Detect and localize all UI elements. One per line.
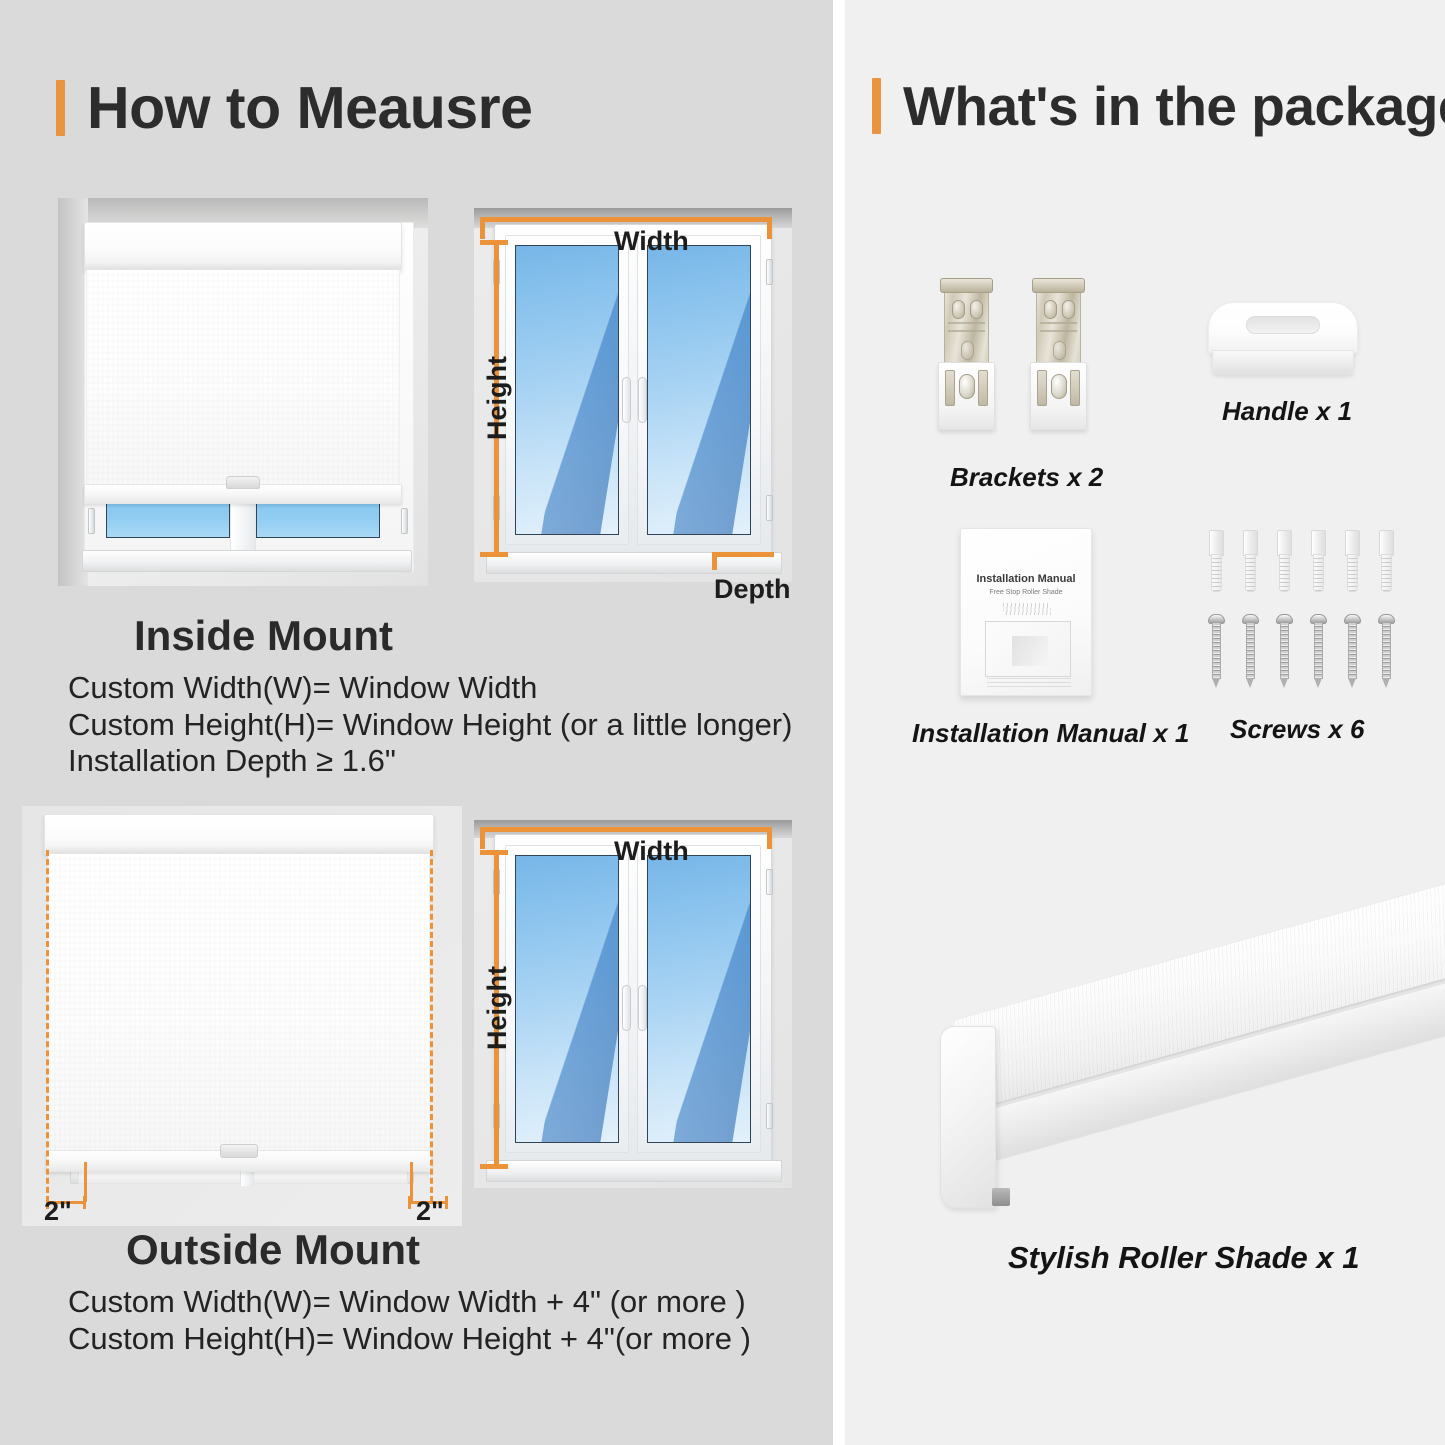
height-label: Height	[482, 966, 513, 1050]
wall-anchor-icon	[1276, 530, 1293, 592]
roller-shade-icon	[900, 880, 1445, 1220]
height-measure-cap-top	[480, 850, 508, 855]
window-handle-right-icon	[638, 377, 647, 423]
window-hinge-right-icon	[401, 508, 408, 534]
how-to-measure-heading: How to Meausre	[56, 74, 532, 142]
overhang-right-label: 2"	[416, 1196, 444, 1227]
window-sash-left	[505, 845, 629, 1153]
width-measure-bar	[480, 827, 772, 832]
window-hinge-top-right-icon	[766, 259, 773, 285]
window-glass-right	[647, 245, 751, 535]
window-glass-left	[515, 855, 619, 1143]
brackets-label: Brackets x 2	[950, 462, 1103, 493]
shade-fabric	[48, 854, 430, 1154]
manual-icon: Installation Manual Free Stop Roller Sha…	[960, 528, 1092, 696]
accent-bar-icon	[56, 80, 65, 136]
overhang-guide-left	[46, 850, 49, 1202]
wall-anchor-icon	[1378, 530, 1395, 592]
screw-icon	[1310, 614, 1327, 688]
outside-mount-window-diagram: Width Height	[462, 812, 812, 1208]
outside-mount-spec-line: Custom Width(W)= Window Width + 4" (or m…	[68, 1284, 751, 1321]
window-handles	[622, 985, 647, 1031]
depth-measure-cap	[712, 552, 717, 570]
window-handle-left-icon	[622, 377, 631, 423]
shade-headrail	[84, 222, 402, 270]
height-measure-cap-bottom	[480, 552, 508, 557]
handle-label: Handle x 1	[1222, 396, 1352, 427]
window-hinge-bottom-right-icon	[766, 495, 773, 521]
manual-cover-subtitle: Free Stop Roller Shade	[961, 589, 1091, 596]
package-title: What's in the package	[903, 74, 1445, 138]
wall-anchor-icon	[1344, 530, 1361, 592]
window-hinge-top-right-icon	[766, 869, 773, 895]
height-measure-cap-top	[480, 240, 508, 245]
window-sash-right	[637, 845, 761, 1153]
shade-pull-handle	[226, 476, 260, 489]
manual-label: Installation Manual x 1	[912, 718, 1189, 749]
window-hinge-bottom-right-icon	[766, 1103, 773, 1129]
overhang-left-label: 2"	[44, 1196, 72, 1227]
depth-label: Depth	[714, 574, 791, 605]
outside-mount-title: Outside Mount	[126, 1226, 420, 1274]
inside-mount-spec-line: Custom Height(H)= Window Height (or a li…	[68, 707, 792, 744]
window-handle-left-icon	[622, 985, 631, 1031]
screw-icon	[1378, 614, 1395, 688]
inside-mount-spec-line: Installation Depth ≥ 1.6"	[68, 743, 792, 780]
inside-mount-window-diagram: Width Height Depth	[462, 200, 812, 600]
screw-icon	[1208, 614, 1225, 688]
outside-mount-shade-illustration	[22, 806, 462, 1226]
window-handles	[622, 377, 647, 423]
infographic-page: How to Meausre What's in the package	[0, 0, 1445, 1445]
handle-icon	[1208, 302, 1358, 374]
how-to-measure-title: How to Meausre	[87, 74, 532, 142]
panel-divider	[833, 0, 845, 1445]
screws-label: Screws x 6	[1230, 714, 1364, 745]
width-measure-bar	[480, 217, 772, 222]
inside-mount-specs: Custom Width(W)= Window Width Custom Hei…	[68, 670, 792, 780]
width-measure-cap-right	[767, 217, 772, 239]
window-hinge-left-icon	[88, 508, 95, 534]
shade-pull-handle	[220, 1144, 258, 1158]
wall-anchor-icon	[1310, 530, 1327, 592]
height-label: Height	[482, 356, 513, 440]
window-sill	[486, 1160, 782, 1182]
window-sash-left	[505, 235, 629, 545]
outside-mount-specs: Custom Width(W)= Window Width + 4" (or m…	[68, 1284, 751, 1357]
window-glass-right	[647, 855, 751, 1143]
roller-shade-end-cap	[940, 1026, 996, 1208]
width-label: Width	[614, 836, 689, 867]
wall-anchor-icon	[1208, 530, 1225, 592]
window-sill	[82, 550, 412, 572]
width-measure-cap-right	[767, 827, 772, 849]
window-sash-right	[637, 235, 761, 545]
manual-cover-title: Installation Manual	[961, 573, 1091, 585]
window-handle-right-icon	[638, 985, 647, 1031]
accent-bar-icon	[872, 78, 881, 134]
shade-fabric	[86, 270, 400, 486]
width-label: Width	[614, 226, 689, 257]
window-frame	[494, 834, 772, 1164]
outside-mount-spec-line: Custom Height(H)= Window Height + 4"(or …	[68, 1321, 751, 1358]
package-heading: What's in the package	[872, 74, 1445, 138]
screw-icon	[1276, 614, 1293, 688]
screw-icon	[1242, 614, 1259, 688]
inside-mount-title: Inside Mount	[134, 612, 393, 660]
bracket-icon	[1030, 278, 1087, 430]
bracket-icon	[938, 278, 995, 430]
width-measure-cap-left	[480, 827, 485, 849]
screw-icon	[1344, 614, 1361, 688]
overhang-guide-right	[430, 850, 433, 1202]
width-measure-cap-left	[480, 217, 485, 239]
inside-mount-spec-line: Custom Width(W)= Window Width	[68, 670, 792, 707]
inside-mount-shade-illustration	[58, 198, 428, 586]
wall-anchor-icon	[1242, 530, 1259, 592]
window-glass-left	[515, 245, 619, 535]
roller-shade-bracket-pin	[992, 1188, 1010, 1206]
height-measure-cap-bottom	[480, 1164, 508, 1169]
depth-measure-bar	[712, 552, 774, 557]
shade-headrail	[44, 814, 434, 854]
roller-shade-label: Stylish Roller Shade x 1	[1008, 1240, 1359, 1276]
window-frame	[494, 224, 772, 556]
